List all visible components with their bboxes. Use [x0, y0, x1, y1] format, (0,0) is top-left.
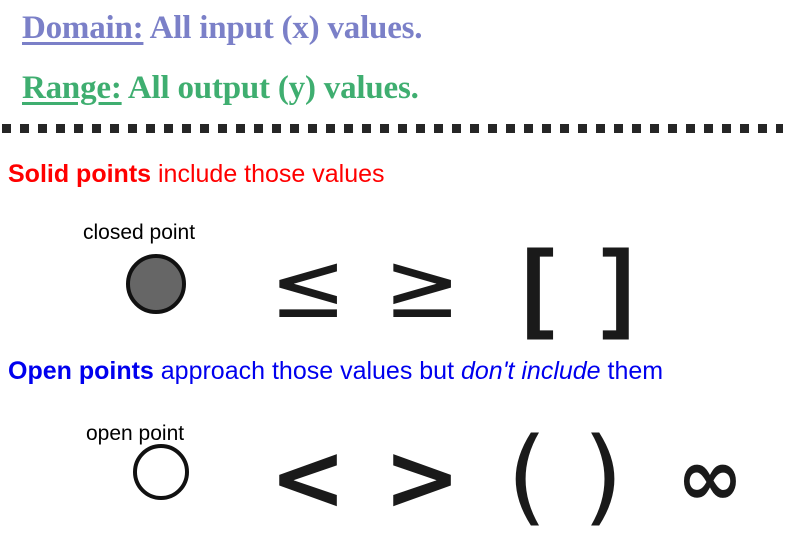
domain-term: Domain: — [22, 10, 143, 46]
dotted-divider — [2, 124, 783, 133]
right-square-bracket-icon: ] — [588, 236, 648, 334]
open-points-sentence: Open points approach those values but do… — [8, 357, 663, 386]
infinity-icon: ∞ — [655, 438, 765, 518]
greater-than-or-equal-icon: ≥ — [382, 240, 462, 332]
solid-points-sentence: Solid points include those values — [8, 160, 385, 189]
left-parenthesis-icon: ( — [492, 424, 562, 528]
open-point-label: open point — [86, 422, 184, 446]
slide-canvas: Domain: All input (x) values. Range: All… — [0, 0, 785, 532]
solid-points-sentence-rest: include those values — [151, 160, 384, 188]
greater-than-icon: > — [382, 432, 462, 524]
open-points-sentence-mid: approach those values but — [154, 357, 461, 385]
less-than-icon: < — [268, 432, 348, 524]
solid-points-emphasis: Solid points — [8, 160, 151, 188]
domain-description: All input (x) values. — [143, 10, 422, 46]
closed-point-icon — [126, 254, 186, 314]
open-points-italic-phrase: don't include — [461, 357, 601, 385]
right-parenthesis-icon: ) — [568, 424, 638, 528]
range-description: All output (y) values. — [122, 70, 419, 106]
left-square-bracket-icon: [ — [508, 236, 568, 334]
range-term: Range: — [22, 70, 122, 106]
closed-point-label: closed point — [83, 221, 195, 245]
open-points-emphasis: Open points — [8, 357, 154, 385]
range-definition-line: Range: All output (y) values. — [22, 70, 419, 107]
domain-definition-line: Domain: All input (x) values. — [22, 10, 422, 47]
open-points-sentence-end: them — [601, 357, 664, 385]
open-point-icon — [133, 444, 189, 500]
less-than-or-equal-icon: ≤ — [268, 240, 348, 332]
